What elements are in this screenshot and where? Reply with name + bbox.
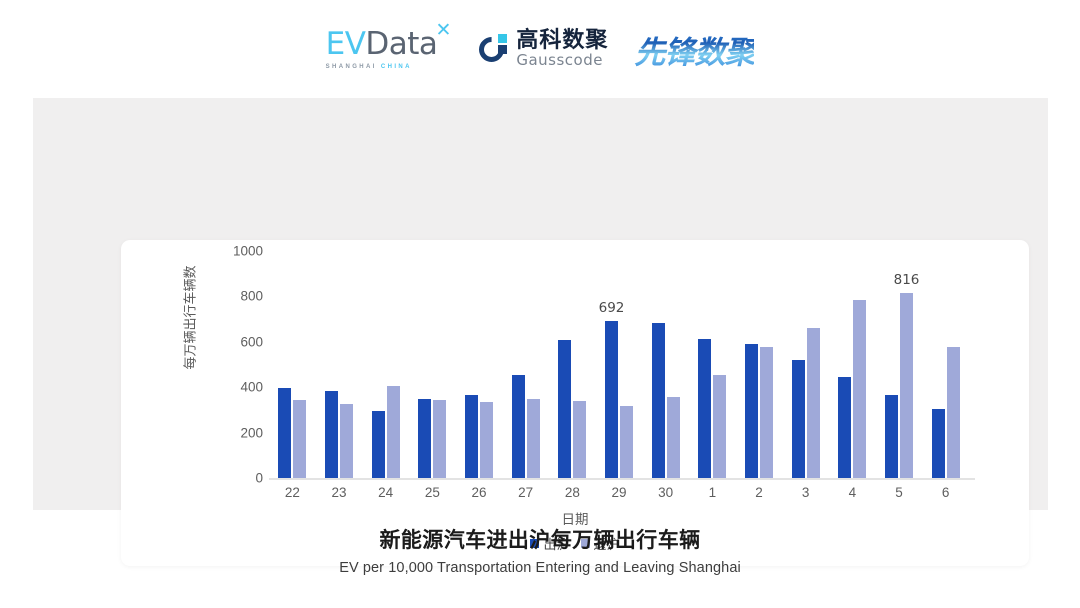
x-axis-tick: 30 — [642, 486, 689, 500]
x-axis-ticks: 222324252627282930123456 — [269, 486, 969, 504]
x-axis-line — [269, 478, 975, 480]
y-axis-ticks: 02004006008001000 — [217, 240, 263, 468]
logo-gausscode: 高科数聚 Gausscode — [479, 30, 608, 68]
bar-chuhu — [885, 395, 898, 478]
x-spark-icon: ✕ — [435, 21, 451, 40]
x-axis-tick: 4 — [829, 486, 876, 500]
y-axis-tick: 1000 — [217, 244, 263, 258]
gausscode-name-en: Gausscode — [516, 53, 608, 68]
bar-chuhu — [418, 399, 431, 478]
bar-chuhu — [512, 375, 525, 478]
bar-fanhu — [387, 386, 400, 478]
x-axis-tick: 22 — [269, 486, 316, 500]
gausscode-ring-icon — [479, 34, 509, 64]
bar-fanhu — [807, 328, 820, 478]
bar-chart: 每万辆出行车辆数 02004006008001000 692816 222324… — [121, 240, 1029, 566]
bar-chuhu — [278, 388, 291, 478]
x-axis-title: 日期 — [121, 508, 1029, 528]
bar-group — [736, 251, 783, 478]
bar-chuhu — [698, 339, 711, 478]
chart-panel-background: 每万辆出行车辆数 02004006008001000 692816 222324… — [33, 98, 1048, 510]
bar-group — [549, 251, 596, 478]
plot-area: 692816 — [269, 251, 969, 478]
bar-chuhu — [325, 391, 338, 478]
gausscode-name-cn: 高科数聚 — [516, 30, 608, 52]
x-axis-tick: 29 — [596, 486, 643, 500]
x-axis-tick: 27 — [502, 486, 549, 500]
y-axis-title: 每万辆出行车辆数 — [180, 248, 199, 388]
evdata-tagline-country: CHINA — [381, 64, 412, 70]
logo-xianfeng-shuju: 先锋数聚 — [634, 27, 754, 72]
xianfeng-name-cn: 先锋数聚 — [634, 27, 754, 72]
gausscode-wordmark: 高科数聚 Gausscode — [516, 30, 608, 68]
bar-fanhu — [853, 300, 866, 478]
bar-group — [409, 251, 456, 478]
bar-fanhu — [713, 375, 726, 479]
bar-fanhu — [620, 406, 633, 478]
bar-chuhu — [465, 395, 478, 478]
evdata-tagline-city: SHANGHAI — [326, 64, 381, 70]
x-axis-tick: 3 — [782, 486, 829, 500]
bar-group — [829, 251, 876, 478]
bar-fanhu — [573, 401, 586, 478]
bar-fanhu — [480, 402, 493, 478]
logo-bar: EV Data ✕ SHANGHAI CHINA 高科数聚 Gausscode … — [0, 18, 1080, 80]
bar-value-label: 816 — [877, 274, 937, 288]
y-axis-tick: 600 — [217, 335, 263, 349]
y-axis-tick: 0 — [217, 471, 263, 485]
bar-group — [596, 251, 643, 478]
bar-group — [362, 251, 409, 478]
bar-fanhu — [760, 347, 773, 478]
bar-chuhu — [558, 340, 571, 478]
caption-subtitle: EV per 10,000 Transportation Entering an… — [0, 560, 1080, 576]
x-axis-tick: 23 — [316, 486, 363, 500]
evdata-word-ev: EV — [326, 29, 366, 60]
evdata-word-data: Data — [365, 29, 437, 60]
bar-chuhu — [652, 323, 665, 478]
bar-fanhu — [340, 404, 353, 478]
x-axis-tick: 1 — [689, 486, 736, 500]
bar-group — [642, 251, 689, 478]
bar-group — [456, 251, 503, 478]
x-axis-tick: 26 — [456, 486, 503, 500]
bar-fanhu — [433, 400, 446, 478]
x-axis-tick: 28 — [549, 486, 596, 500]
bar-chuhu — [745, 344, 758, 478]
bar-fanhu — [527, 399, 540, 478]
evdata-wordmark: EV Data ✕ — [326, 29, 454, 60]
x-axis-tick: 6 — [922, 486, 969, 500]
bar-chuhu — [372, 411, 385, 478]
y-axis-tick: 200 — [217, 426, 263, 440]
bar-chuhu — [838, 377, 851, 478]
bar-group — [782, 251, 829, 478]
x-axis-tick: 24 — [362, 486, 409, 500]
logo-evdata: EV Data ✕ SHANGHAI CHINA — [326, 29, 454, 70]
bar-fanhu — [947, 347, 960, 478]
bar-chuhu — [605, 321, 618, 478]
x-axis-tick: 25 — [409, 486, 456, 500]
bar-group — [316, 251, 363, 478]
bar-chuhu — [792, 360, 805, 478]
y-axis-tick: 400 — [217, 380, 263, 394]
bar-fanhu — [900, 293, 913, 478]
bar-group — [689, 251, 736, 478]
y-axis-tick: 800 — [217, 290, 263, 304]
bar-fanhu — [667, 397, 680, 478]
chart-card: 每万辆出行车辆数 02004006008001000 692816 222324… — [121, 240, 1029, 566]
bar-fanhu — [293, 400, 306, 478]
bar-group — [269, 251, 316, 478]
bar-value-label: 692 — [582, 302, 642, 316]
caption-title: 新能源汽车进出沪每万辆出行车辆 — [0, 528, 1080, 553]
x-axis-tick: 2 — [736, 486, 783, 500]
evdata-tagline: SHANGHAI CHINA — [326, 64, 412, 70]
bar-chuhu — [932, 409, 945, 478]
bar-group — [502, 251, 549, 478]
caption-block: 新能源汽车进出沪每万辆出行车辆 EV per 10,000 Transporta… — [0, 528, 1080, 576]
x-axis-tick: 5 — [876, 486, 923, 500]
